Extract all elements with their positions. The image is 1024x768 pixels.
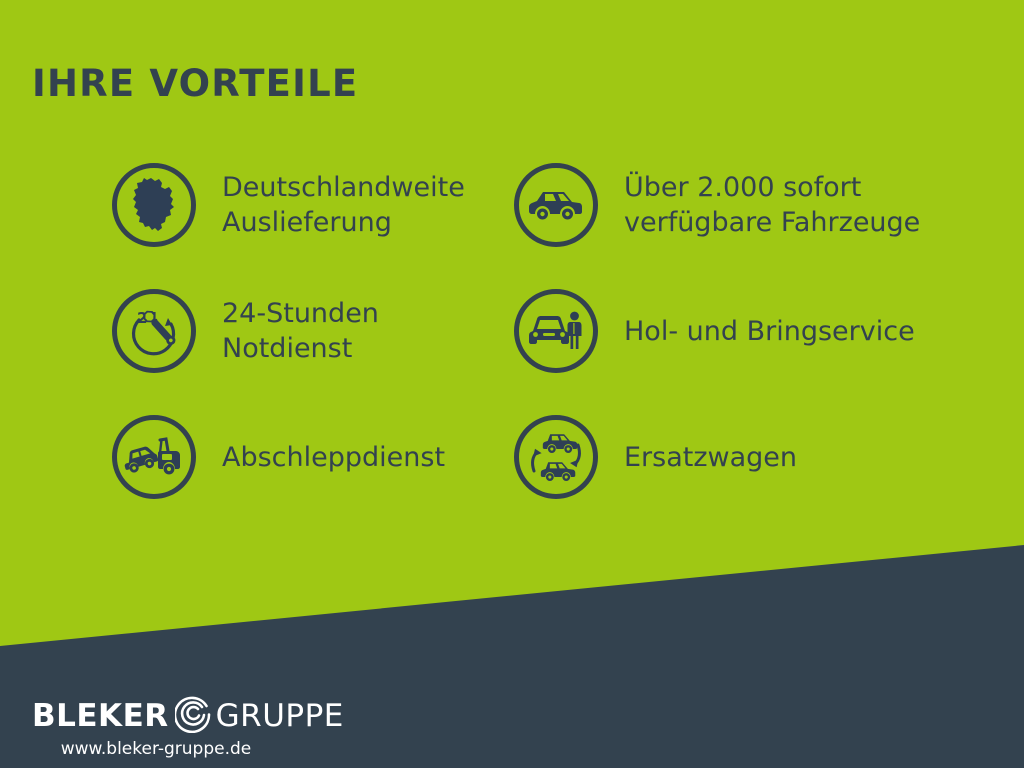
benefit-row: Deutschlandweite Auslieferung Über 2.000… — [0, 155, 1024, 281]
benefit-label: Über 2.000 sofort verfügbare Fahrzeuge — [624, 170, 920, 240]
logo-row: BLEKER GRUPPE — [32, 697, 344, 735]
benefit-label: Abschleppdienst — [222, 440, 445, 475]
benefit-label: 24-Stunden Notdienst — [222, 296, 379, 366]
car-side-icon — [514, 163, 598, 247]
benefit-label: Deutschlandweite Auslieferung — [222, 170, 465, 240]
spiral-swirl-icon — [175, 695, 213, 737]
benefit-item-deutschlandweite-auslieferung[interactable]: Deutschlandweite Auslieferung — [112, 155, 465, 255]
benefit-item-verfuegbare-fahrzeuge[interactable]: Über 2.000 sofort verfügbare Fahrzeuge — [514, 155, 920, 255]
benefit-item-hol-und-bringservice[interactable]: Hol- und Bringservice — [514, 281, 915, 381]
logo-primary-text: BLEKER — [32, 699, 169, 733]
page-title: IHRE VORTEILE — [32, 62, 358, 105]
benefit-item-ersatzwagen[interactable]: Ersatzwagen — [514, 407, 797, 507]
replacement-car-icon — [514, 415, 598, 499]
logo-secondary-text: GRUPPE — [216, 699, 344, 733]
footer-website-url[interactable]: www.bleker-gruppe.de — [32, 739, 280, 759]
benefit-item-24-stunden-notdienst[interactable]: 24 24-Stunden Notdienst — [112, 281, 379, 381]
footer-logo-block[interactable]: BLEKER GRUPPE www.bleker-gruppe.de — [32, 697, 344, 759]
benefits-grid: Deutschlandweite Auslieferung Über 2.000… — [0, 155, 1024, 533]
benefit-row: 24 24-Stunden Notdienst — [0, 281, 1024, 407]
benefit-item-abschleppdienst[interactable]: Abschleppdienst — [112, 407, 445, 507]
benefit-label: Ersatzwagen — [624, 440, 797, 475]
benefit-row: Abschleppdienst — [0, 407, 1024, 533]
24-hours-wrench-icon: 24 — [112, 289, 196, 373]
car-person-icon — [514, 289, 598, 373]
benefit-label: Hol- und Bringservice — [624, 314, 915, 349]
germany-map-icon — [112, 163, 196, 247]
slide-root: IHRE VORTEILE Deutschlandweite Ausliefer… — [0, 0, 1024, 768]
tow-truck-icon — [112, 415, 196, 499]
